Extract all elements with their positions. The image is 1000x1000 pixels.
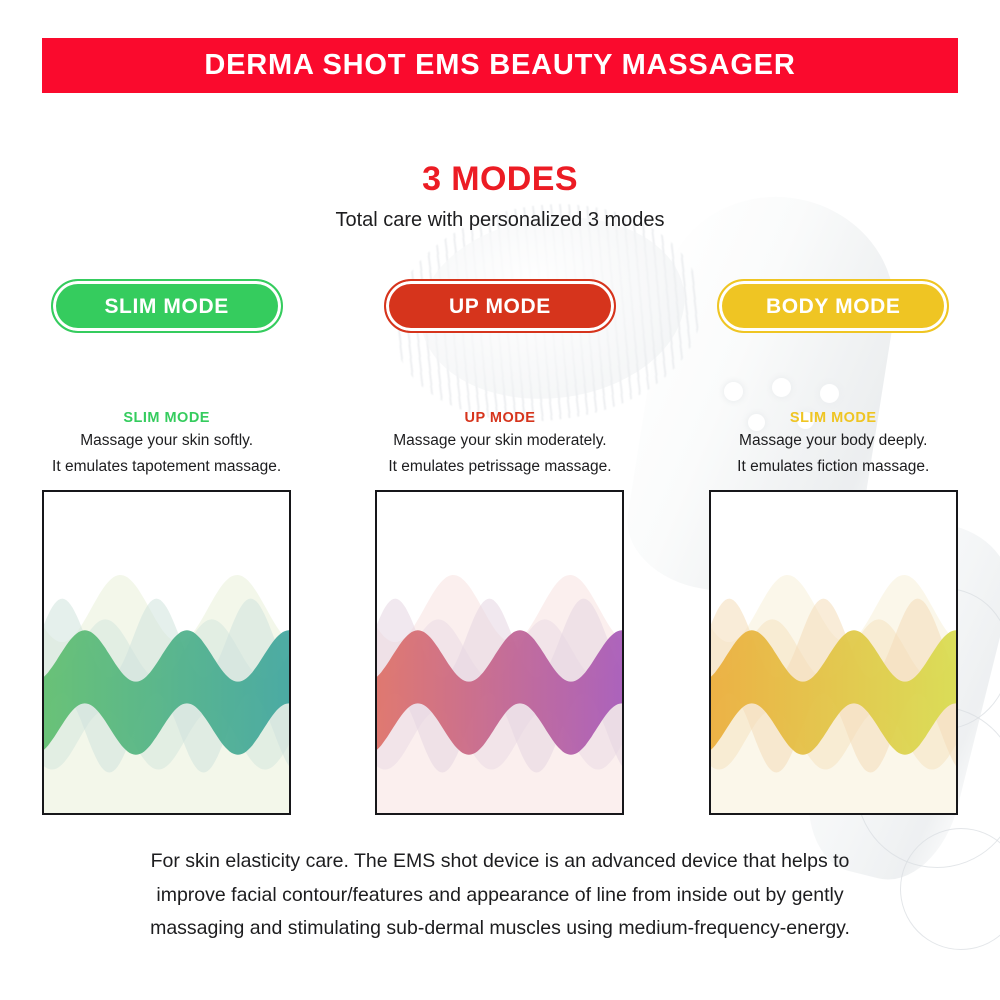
waveform-graphic-slim (44, 492, 289, 813)
mode-pill-slim[interactable]: SLIM MODE (51, 279, 283, 333)
mode-caption-row: SLIM MODE Massage your skin softly. It e… (0, 410, 1000, 478)
mode-caption-title: SLIM MODE (667, 410, 1000, 427)
device-electrode-dot-ghost (724, 382, 743, 401)
section-title: 3 MODES (0, 160, 1000, 199)
mode-caption-body: SLIM MODE Massage your body deeply. It e… (667, 410, 1000, 478)
footer-line-2: improve facial contour/features and appe… (60, 879, 940, 913)
mode-caption-line-2: It emulates petrissage massage. (333, 456, 666, 478)
wave-panel-body (709, 490, 958, 815)
mode-pill-body[interactable]: BODY MODE (717, 279, 949, 333)
waveform-graphic-up (377, 492, 622, 813)
wave-panel-row (0, 490, 1000, 816)
wave-panel-cell-slim (0, 490, 333, 816)
mode-caption-line-1: Massage your skin moderately. (333, 430, 666, 452)
footer-line-1: For skin elasticity care. The EMS shot d… (60, 845, 940, 879)
mode-pill-cell-slim: SLIM MODE (0, 278, 333, 334)
mode-pill-cell-up: UP MODE (333, 278, 666, 334)
mode-pill-label: UP MODE (449, 296, 551, 317)
mode-caption-title: UP MODE (333, 410, 666, 427)
mode-caption-line-2: It emulates tapotement massage. (0, 456, 333, 478)
mode-caption-line-1: Massage your body deeply. (667, 430, 1000, 452)
section-subtitle: Total care with personalized 3 modes (0, 207, 1000, 233)
infographic-page: DERMA SHOT EMS BEAUTY MASSAGER 3 MODES T… (0, 0, 1000, 1000)
device-electrode-dot-ghost (820, 384, 839, 403)
section-heading: 3 MODES Total care with personalized 3 m… (0, 160, 1000, 233)
wave-panel-slim (42, 490, 291, 815)
device-electrode-dot-ghost (772, 378, 791, 397)
mode-pill-cell-body: BODY MODE (667, 278, 1000, 334)
mode-pill-label: SLIM MODE (104, 296, 228, 317)
wave-panel-up (375, 490, 624, 815)
mode-caption-line-1: Massage your skin softly. (0, 430, 333, 452)
footer-description: For skin elasticity care. The EMS shot d… (60, 845, 940, 946)
page-title: DERMA SHOT EMS BEAUTY MASSAGER (204, 51, 795, 80)
header-banner: DERMA SHOT EMS BEAUTY MASSAGER (42, 38, 958, 93)
wave-panel-cell-up (333, 490, 666, 816)
mode-pill-row: SLIM MODE UP MODE BODY MODE (0, 278, 1000, 334)
mode-caption-line-2: It emulates fiction massage. (667, 456, 1000, 478)
mode-caption-up: UP MODE Massage your skin moderately. It… (333, 410, 666, 478)
mode-pill-up[interactable]: UP MODE (384, 279, 616, 333)
mode-pill-label: BODY MODE (766, 296, 901, 317)
footer-line-3: massaging and stimulating sub-dermal mus… (60, 912, 940, 946)
mode-caption-title: SLIM MODE (0, 410, 333, 427)
wave-panel-cell-body (667, 490, 1000, 816)
mode-caption-slim: SLIM MODE Massage your skin softly. It e… (0, 410, 333, 478)
waveform-graphic-body (711, 492, 956, 813)
